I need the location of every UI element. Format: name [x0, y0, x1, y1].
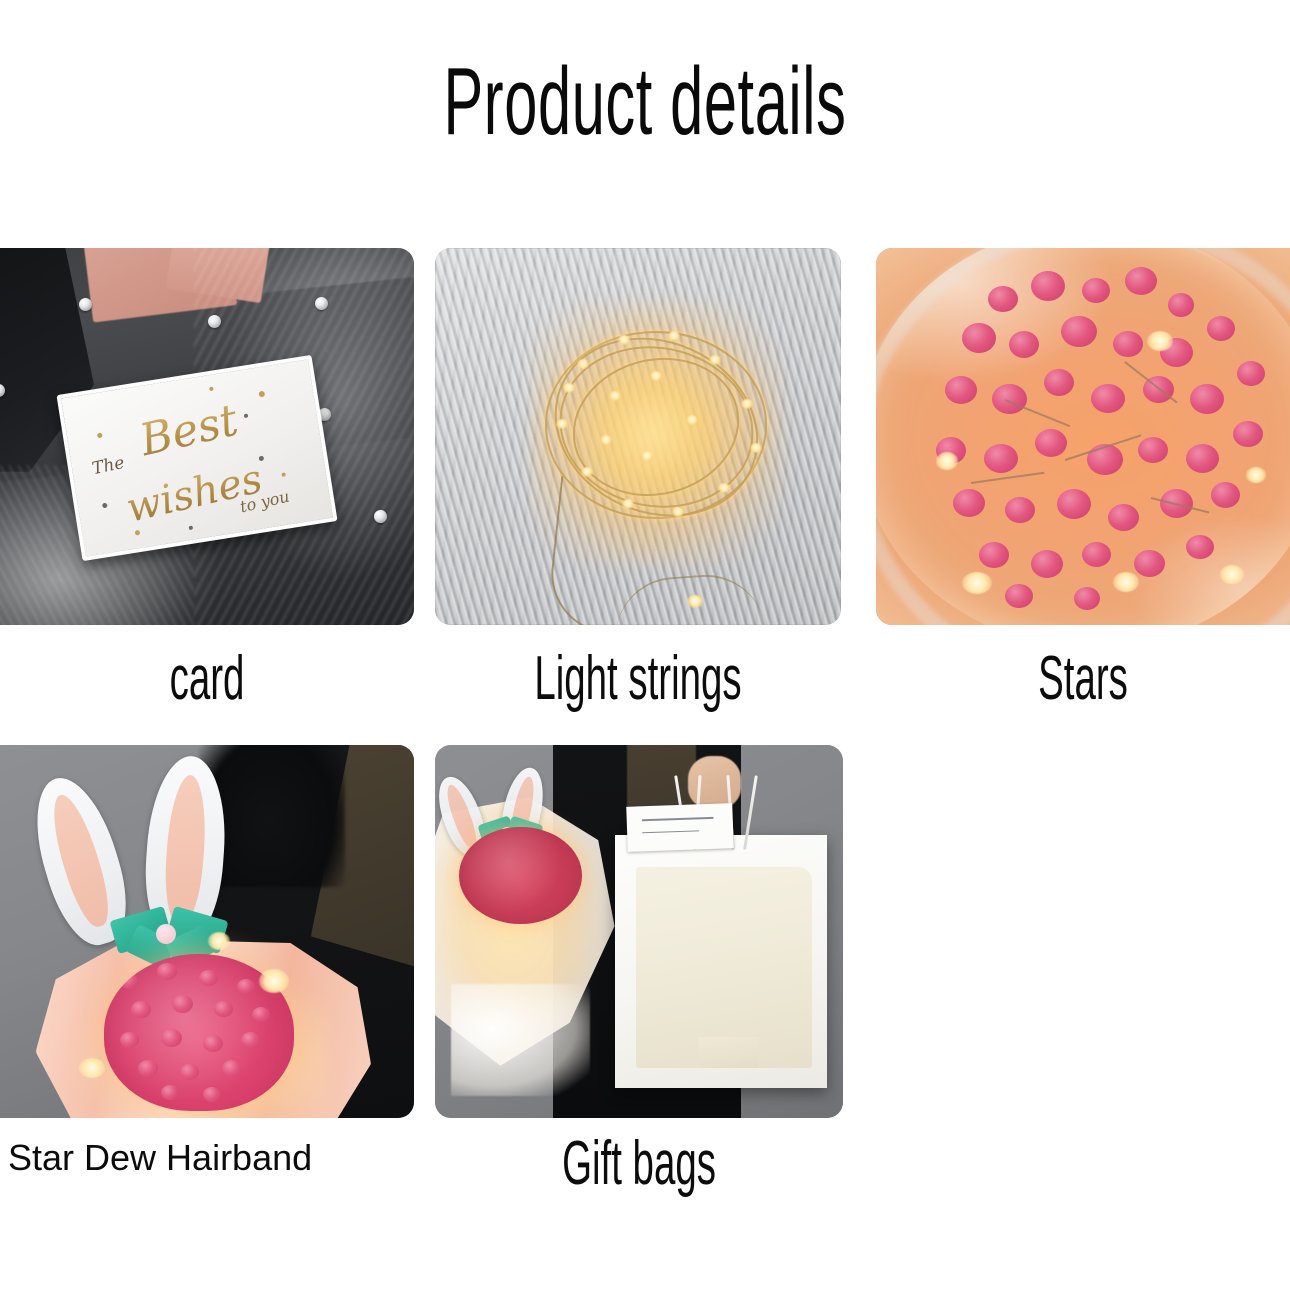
card-text-wishes: wishes — [122, 456, 266, 532]
gift-bag-tag — [626, 803, 734, 851]
gift-bag-fold — [699, 1037, 758, 1067]
card-dot — [244, 414, 249, 419]
card-dot — [258, 391, 265, 398]
gallery-tile-gift-bags[interactable] — [435, 745, 843, 1118]
led-bulb — [687, 595, 703, 608]
caption-stars: Stars — [955, 648, 1212, 710]
caption-light-strings: Light strings — [512, 648, 764, 710]
card-dot — [209, 387, 214, 392]
red-flower-ball — [459, 827, 581, 924]
gallery-tile-light-strings[interactable] — [435, 248, 841, 625]
gift-bags-photo — [435, 745, 843, 1118]
gallery-tile-star-dew-hairband[interactable] — [0, 745, 414, 1118]
pearl-bead — [374, 510, 387, 523]
card-text-best: Best — [135, 394, 243, 466]
caption-gift-bags: Gift bags — [513, 1133, 766, 1195]
product-detail-gallery: The Best wishes to you — [0, 0, 1290, 1290]
card-photo: The Best wishes to you — [0, 248, 414, 625]
hairband-photo — [0, 745, 414, 1118]
card-text-the: The — [90, 453, 126, 479]
led-sparkle — [259, 969, 289, 993]
card-dot — [97, 433, 103, 439]
stars-photo — [876, 248, 1290, 625]
led-sparkle — [79, 1058, 105, 1078]
card-dot — [189, 526, 194, 531]
cream-ribbon-bow — [451, 984, 590, 1096]
pearl-bead — [315, 297, 328, 310]
card-dot — [135, 530, 141, 536]
gallery-tile-stars[interactable] — [876, 248, 1290, 625]
led-sparkle — [208, 932, 230, 950]
gift-bag — [615, 835, 827, 1089]
pearl-bead — [79, 298, 92, 311]
caption-star-dew-hairband: Star Dew Hairband — [8, 1140, 368, 1176]
balloon-rim — [876, 248, 1290, 625]
card-dot — [281, 472, 286, 477]
card-dot — [102, 503, 108, 509]
card-message: The Best wishes to you — [61, 359, 333, 556]
card-dot — [259, 456, 265, 462]
light-strings-photo — [435, 248, 841, 625]
bow-center — [156, 924, 176, 944]
pearl-bead — [208, 315, 221, 328]
caption-card: card — [79, 648, 336, 710]
gallery-tile-card[interactable]: The Best wishes to you — [0, 248, 414, 625]
